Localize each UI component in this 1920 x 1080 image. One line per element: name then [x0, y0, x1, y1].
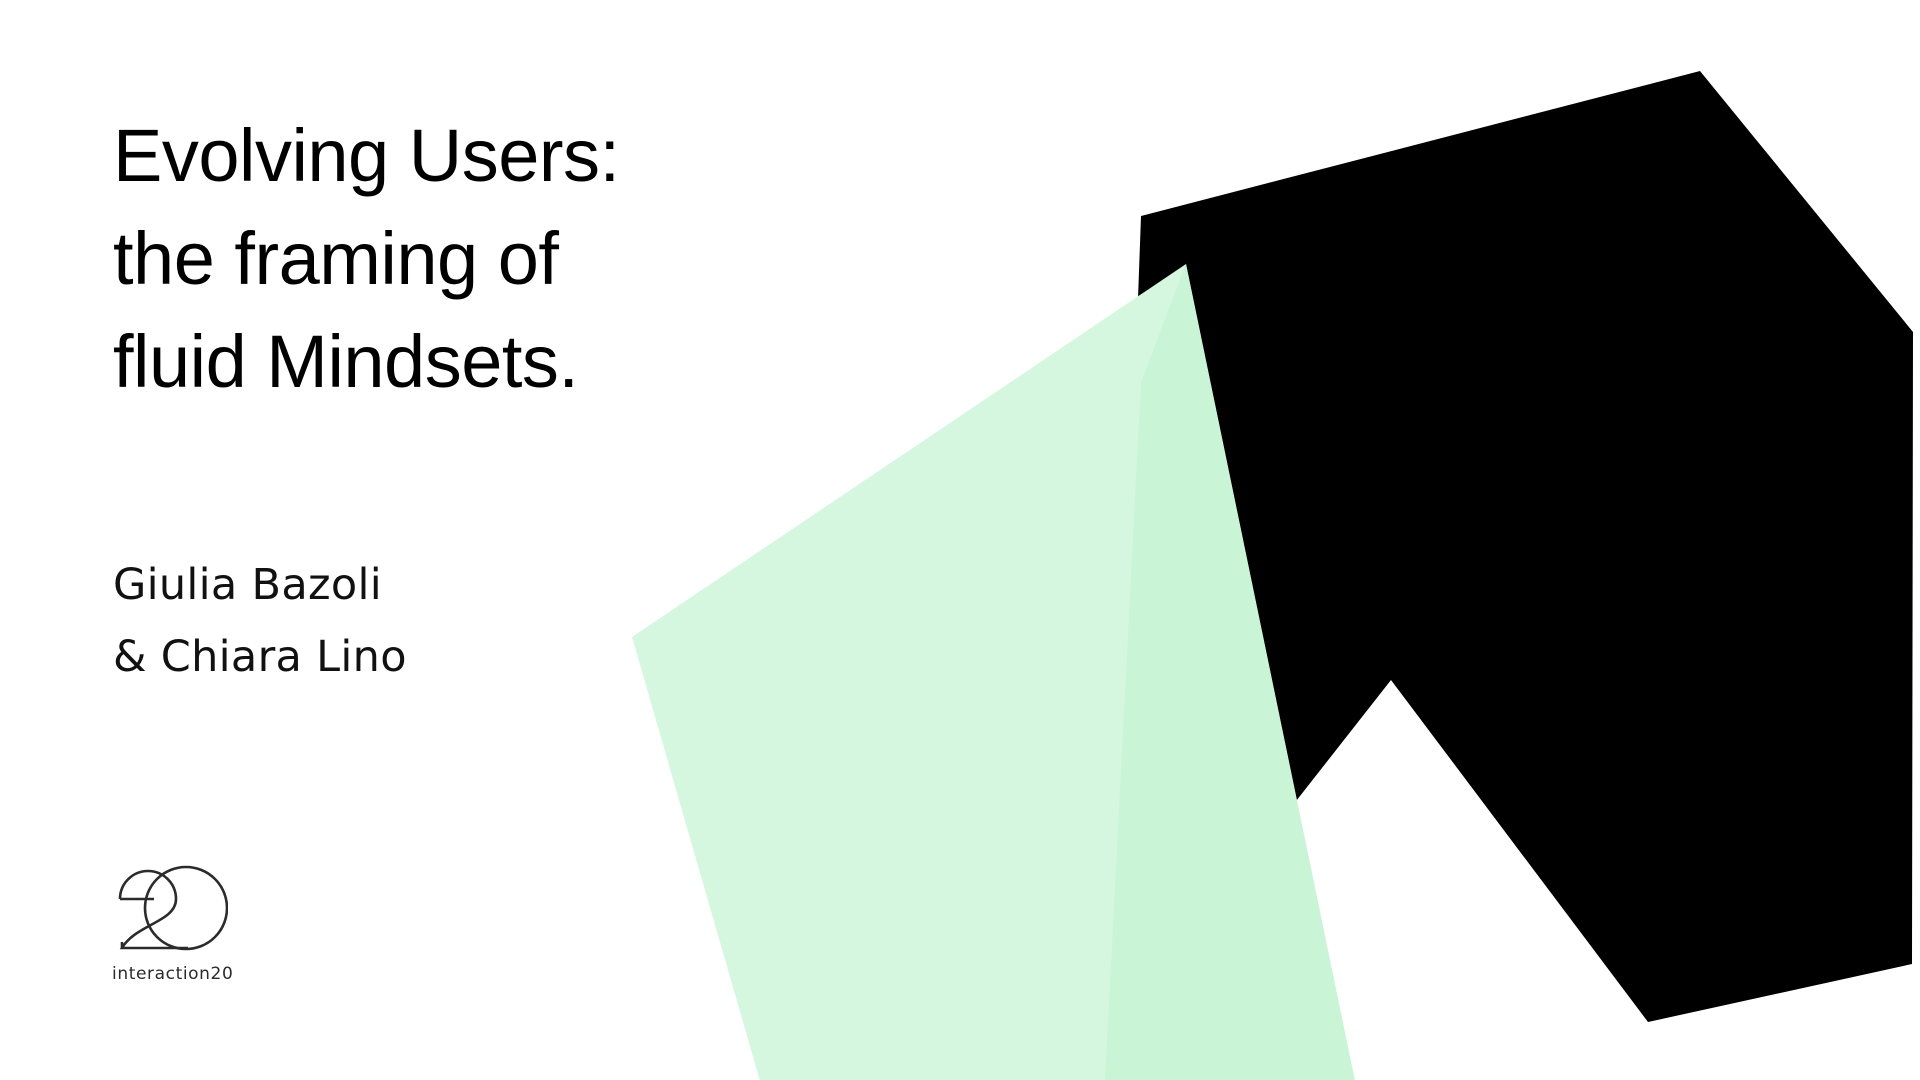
title-line-3: fluid Mindsets. [113, 310, 893, 413]
interaction20-wordmark: interaction20 [112, 964, 332, 984]
author-line-1: Giulia Bazoli [113, 549, 813, 621]
author-line-2: & Chiara Lino [113, 621, 813, 693]
interaction20-logo: interaction20 [112, 862, 332, 984]
page-title: Evolving Users: the framing of fluid Min… [113, 104, 893, 413]
authors: Giulia Bazoli & Chiara Lino [113, 549, 813, 693]
interaction20-logo-icon [112, 862, 228, 954]
presentation-slide: Evolving Users: the framing of fluid Min… [0, 0, 1920, 1080]
title-line-1: Evolving Users: [113, 104, 893, 207]
slide-content: Evolving Users: the framing of fluid Min… [0, 0, 1920, 1080]
title-line-2: the framing of [113, 207, 893, 310]
